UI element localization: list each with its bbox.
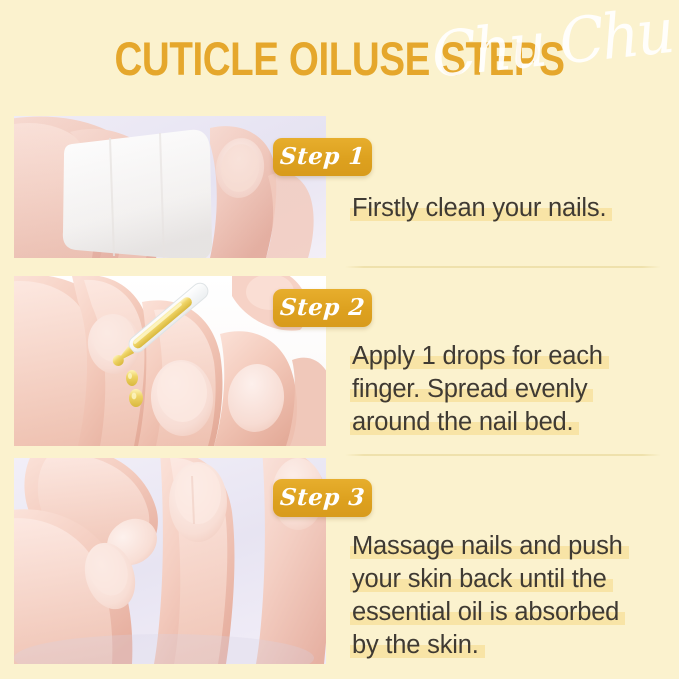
step-3-badge: Step 3	[273, 479, 372, 517]
step-2-badge: Step 2	[273, 289, 372, 327]
divider-2	[345, 454, 661, 456]
divider-1	[345, 266, 661, 268]
step-2-line-3: around the nail bed.	[352, 406, 573, 439]
step-2-line-2: finger. Spread evenly	[352, 373, 587, 406]
step-3-line-3: essential oil is absorbed	[352, 596, 619, 629]
header: CUTICLE OILUSE STEPS Chu Chu	[0, 28, 679, 94]
step-3-text: Massage nails and push your skin back un…	[352, 530, 662, 662]
page-title: CUTICLE OILUSE STEPS	[61, 28, 618, 90]
step-2-badge-label: Step 2	[279, 295, 366, 321]
step-1-badge: Step 1	[273, 138, 372, 176]
step-2-line-1: Apply 1 drops for each	[352, 340, 603, 373]
step-3-line-4: by the skin.	[352, 629, 479, 662]
step-3-badge-label: Step 3	[279, 485, 366, 511]
step-2-text: Apply 1 drops for each finger. Spread ev…	[352, 340, 662, 439]
step-1-text: Firstly clean your nails.	[352, 192, 662, 225]
infographic-page: CUTICLE OILUSE STEPS Chu Chu	[0, 0, 679, 679]
step-3-line-1: Massage nails and push	[352, 530, 623, 563]
step-3-line-2: your skin back until the	[352, 563, 607, 596]
step-1-badge-label: Step 1	[279, 144, 366, 170]
step-1-line-1: Firstly clean your nails.	[352, 192, 606, 225]
